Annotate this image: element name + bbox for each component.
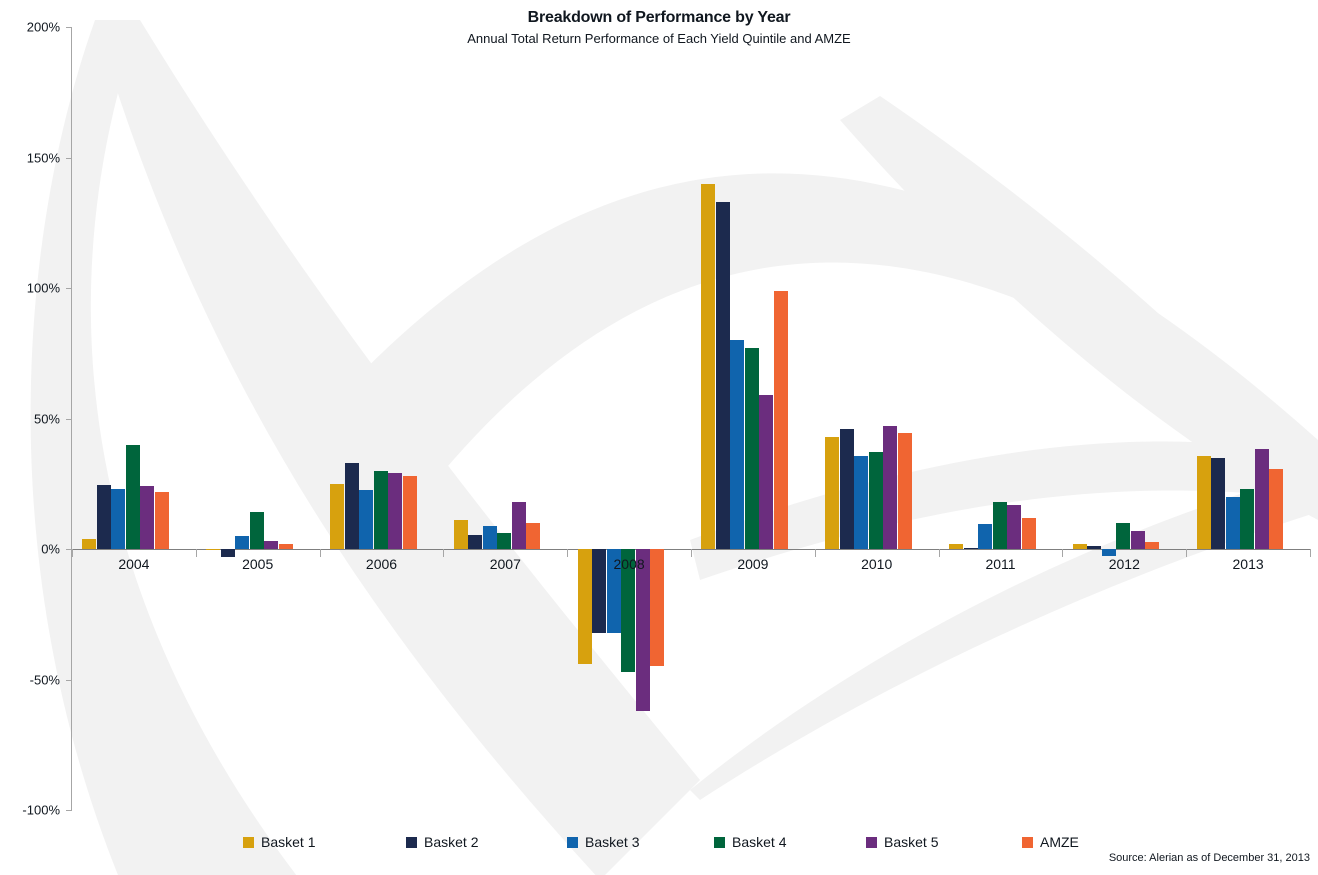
bar-basket-5-2007 [512,502,526,549]
bar-basket-5-2010 [883,426,897,549]
legend-label: Basket 4 [732,834,786,850]
bar-basket-4-2007 [497,533,511,549]
bar-basket-5-2013 [1255,449,1269,549]
bar-amze-2009 [774,291,788,549]
x-tick-label-2011: 2011 [985,556,1015,572]
bar-basket-3-2007 [483,526,497,549]
x-tickmark [1310,549,1311,557]
legend-swatch-basket-2 [406,837,417,848]
bar-basket-2-2007 [468,535,482,549]
bar-basket-5-2005 [264,541,278,549]
y-tickmark [66,810,72,811]
bar-basket-4-2004 [126,445,140,549]
legend-label: AMZE [1040,834,1079,850]
y-tick-label: 50% [34,411,60,426]
legend-item-basket-1[interactable]: Basket 1 [243,834,315,850]
y-tick-label: 0% [41,542,60,557]
bar-basket-4-2006 [374,471,388,549]
bar-basket-2-2009 [716,202,730,549]
bar-basket-5-2011 [1007,505,1021,549]
x-tick-label-2008: 2008 [614,556,645,572]
y-tick-label: -100% [22,803,60,818]
bar-basket-1-2004 [82,539,96,549]
legend-item-amze[interactable]: AMZE [1022,834,1079,850]
bar-basket-5-2009 [759,395,773,549]
source-note: Source: Alerian as of December 31, 2013 [1109,852,1310,864]
bar-basket-1-2013 [1197,456,1211,549]
bar-amze-2011 [1022,518,1036,549]
x-tick-label-2010: 2010 [861,556,892,572]
x-tick-label-2005: 2005 [242,556,273,572]
x-tick-label-2013: 2013 [1233,556,1264,572]
bar-basket-5-2006 [388,473,402,549]
x-tick-label-2007: 2007 [490,556,521,572]
x-tick-label-2009: 2009 [737,556,768,572]
legend-label: Basket 5 [884,834,938,850]
bar-amze-2004 [155,492,169,549]
bar-basket-3-2013 [1226,497,1240,549]
y-tick-label: 150% [27,150,60,165]
y-tick-label: 100% [27,281,60,296]
bar-basket-3-2006 [359,490,373,549]
bar-basket-4-2005 [250,512,264,549]
bars-layer [72,27,1310,810]
legend-item-basket-5[interactable]: Basket 5 [866,834,938,850]
y-axis-labels: 200%150%100%50%0%-50%-100% [0,27,66,810]
legend-label: Basket 3 [585,834,639,850]
bar-amze-2010 [898,433,912,549]
bar-basket-4-2011 [993,502,1007,549]
bar-basket-1-2010 [825,437,839,549]
bar-basket-2-2010 [840,429,854,549]
bar-basket-3-2005 [235,536,249,549]
chart-subtitle: Annual Total Return Performance of Each … [0,30,1318,47]
chart-page: Breakdown of Performance by Year Annual … [0,0,1318,875]
bar-basket-4-2010 [869,452,883,549]
legend-swatch-basket-5 [866,837,877,848]
legend-item-basket-3[interactable]: Basket 3 [567,834,639,850]
bar-basket-4-2009 [745,348,759,549]
legend-swatch-basket-4 [714,837,725,848]
legend-item-basket-2[interactable]: Basket 2 [406,834,478,850]
bar-basket-3-2009 [730,340,744,549]
bar-basket-3-2011 [978,524,992,549]
bar-amze-2013 [1269,469,1283,549]
legend-swatch-basket-3 [567,837,578,848]
legend-item-basket-4[interactable]: Basket 4 [714,834,786,850]
bar-basket-3-2004 [111,489,125,549]
legend-label: Basket 2 [424,834,478,850]
bar-basket-1-2009 [701,184,715,549]
bar-basket-4-2012 [1116,523,1130,549]
bar-basket-5-2004 [140,486,154,549]
bar-basket-1-2007 [454,520,468,549]
bar-amze-2012 [1145,542,1159,549]
title-block: Breakdown of Performance by Year Annual … [0,8,1318,47]
bar-basket-2-2004 [97,485,111,549]
bar-basket-1-2006 [330,484,344,549]
bar-basket-3-2010 [854,456,868,549]
x-tick-label-2004: 2004 [118,556,149,572]
bar-amze-2006 [403,476,417,549]
bar-amze-2007 [526,523,540,549]
bar-basket-2-2006 [345,463,359,549]
y-tick-label: -50% [30,672,60,687]
bar-basket-4-2013 [1240,489,1254,549]
legend-label: Basket 1 [261,834,315,850]
bar-basket-2-2013 [1211,458,1225,549]
legend-swatch-basket-1 [243,837,254,848]
x-tick-label-2012: 2012 [1109,556,1140,572]
legend-swatch-amze [1022,837,1033,848]
bar-basket-5-2012 [1131,531,1145,549]
chart-title: Breakdown of Performance by Year [0,8,1318,27]
x-axis-labels: 2004200520062007200820092010201120122013 [72,556,1310,578]
x-tick-label-2006: 2006 [366,556,397,572]
